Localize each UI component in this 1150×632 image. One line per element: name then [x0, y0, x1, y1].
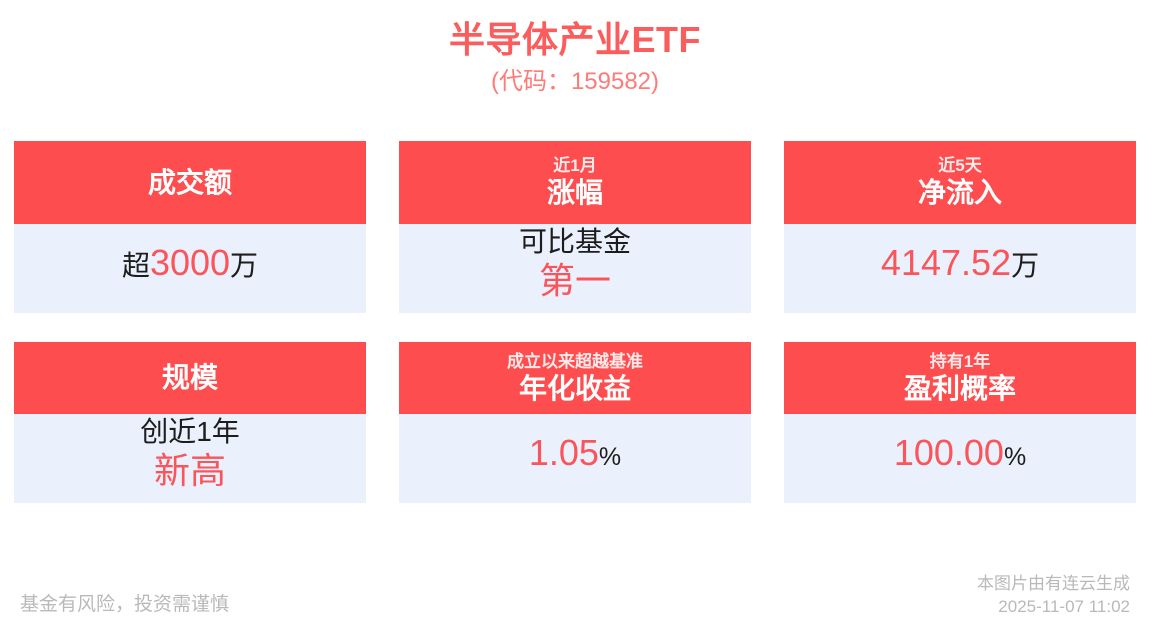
card-header: 近1月 涨幅 — [399, 141, 751, 224]
card-header: 近5天 净流入 — [784, 141, 1136, 224]
value-number: 4147.52 — [881, 242, 1011, 283]
value-number: 第一 — [539, 260, 611, 301]
generation-credit: 本图片由有连云生成 2025-11-07 11:02 — [977, 572, 1130, 618]
card-header-label: 年化收益 — [519, 372, 631, 406]
card-header-label: 成交额 — [148, 166, 232, 200]
page-header: 半导体产业ETF (代码：159582) — [0, 0, 1150, 99]
card-header-sublabel: 成立以来超越基准 — [507, 351, 643, 372]
card-body: 100.00% — [784, 414, 1136, 503]
value-prefix: 超 — [122, 250, 150, 281]
risk-disclaimer: 基金有风险，投资需谨慎 — [20, 592, 229, 618]
card-body-value-line: 新高 — [154, 450, 226, 495]
card-header-sublabel: 近1月 — [553, 155, 596, 176]
metric-card-fund-size: 规模 创近1年 新高 — [14, 342, 366, 503]
card-body-value-line: 100.00% — [894, 432, 1026, 478]
value-number: 1.05 — [529, 432, 599, 473]
value-number: 3000 — [150, 242, 230, 283]
card-body: 1.05% — [399, 414, 751, 503]
card-header: 成立以来超越基准 年化收益 — [399, 342, 751, 414]
value-unit: 万 — [230, 250, 258, 281]
card-header-label: 涨幅 — [547, 176, 603, 210]
metric-card-1m-gain: 近1月 涨幅 可比基金 第一 — [399, 141, 751, 313]
credit-timestamp: 2025-11-07 11:02 — [977, 595, 1130, 618]
metric-card-annualized-excess-return: 成立以来超越基准 年化收益 1.05% — [399, 342, 751, 503]
page-footer: 基金有风险，投资需谨慎 本图片由有连云生成 2025-11-07 11:02 — [0, 570, 1150, 632]
value-unit: % — [599, 443, 621, 471]
card-body-value-line: 4147.52万 — [881, 242, 1039, 287]
card-body-value-line: 超3000万 — [122, 242, 258, 287]
credit-source: 本图片由有连云生成 — [977, 572, 1130, 595]
value-number: 100.00 — [894, 432, 1004, 473]
etf-infographic-page: 半导体产业ETF (代码：159582) 成交额 超3000万 近1月 涨幅 — [0, 0, 1150, 632]
card-header-label: 盈利概率 — [904, 372, 1016, 406]
card-header: 规模 — [14, 342, 366, 414]
card-header-label: 净流入 — [918, 176, 1002, 210]
card-body: 可比基金 第一 — [399, 224, 751, 313]
card-body-value-line: 第一 — [539, 260, 611, 305]
card-header-sublabel: 近5天 — [938, 155, 981, 176]
metric-card-grid: 成交额 超3000万 近1月 涨幅 可比基金 第一 — [14, 141, 1136, 503]
value-unit: % — [1004, 443, 1026, 471]
card-header-sublabel: 持有1年 — [930, 351, 990, 372]
card-body-line1: 可比基金 — [519, 224, 631, 260]
card-body-value-line: 1.05% — [529, 432, 621, 478]
fund-code-subtitle: (代码：159582) — [0, 65, 1150, 99]
card-body: 创近1年 新高 — [14, 414, 366, 503]
metric-card-turnover: 成交额 超3000万 — [14, 141, 366, 313]
value-unit: 万 — [1011, 250, 1039, 281]
page-title: 半导体产业ETF — [0, 18, 1150, 62]
card-body: 超3000万 — [14, 224, 366, 313]
value-number: 新高 — [154, 450, 226, 491]
card-header-label: 规模 — [162, 361, 218, 395]
metric-card-5d-netinflow: 近5天 净流入 4147.52万 — [784, 141, 1136, 313]
card-body: 4147.52万 — [784, 224, 1136, 313]
card-body-line1: 创近1年 — [140, 414, 240, 450]
metric-card-1y-profit-probability: 持有1年 盈利概率 100.00% — [784, 342, 1136, 503]
card-header: 持有1年 盈利概率 — [784, 342, 1136, 414]
card-header: 成交额 — [14, 141, 366, 224]
